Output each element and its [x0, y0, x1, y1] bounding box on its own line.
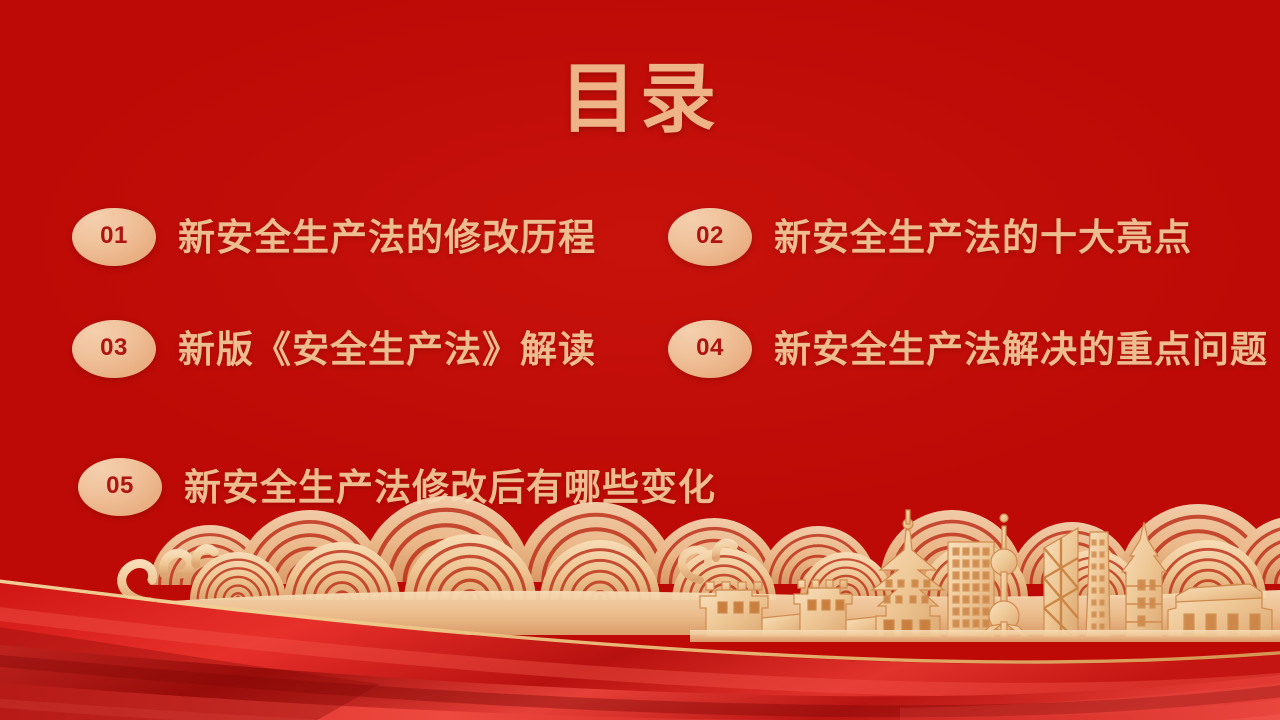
- toc-number-badge: 02: [668, 208, 752, 266]
- toc-item-02[interactable]: 02 新安全生产法的十大亮点: [668, 208, 1192, 266]
- toc-item-label: 新版《安全生产法》解读: [178, 331, 596, 368]
- slim-skyscraper: [1086, 532, 1110, 636]
- toc-item-label: 新安全生产法解决的重点问题: [774, 331, 1268, 368]
- toc-number-label: 04: [696, 336, 724, 360]
- toc-item-03[interactable]: 03 新版《安全生产法》解读: [72, 320, 596, 378]
- toc-number-badge: 03: [72, 320, 156, 378]
- toc-item-label: 新安全生产法的修改历程: [178, 219, 596, 256]
- toc-number-label: 01: [100, 224, 128, 248]
- toc-number-label: 03: [100, 336, 128, 360]
- slide-canvas: 目录 01 新安全生产法的修改历程 02 新安全生产法的十大亮点 03 新版《安…: [0, 0, 1280, 720]
- toc-item-label: 新安全生产法的十大亮点: [774, 219, 1192, 256]
- toc-number-badge: 01: [72, 208, 156, 266]
- office-tower: [948, 542, 994, 636]
- traditional-gate-hall: [1168, 584, 1272, 636]
- toc-number-label: 02: [696, 224, 724, 248]
- toc-number-badge: 04: [668, 320, 752, 378]
- toc-item-04[interactable]: 04 新安全生产法解决的重点问题: [668, 320, 1268, 378]
- toc-item-01[interactable]: 01 新安全生产法的修改历程: [72, 208, 596, 266]
- bottom-decoration: [0, 430, 1280, 720]
